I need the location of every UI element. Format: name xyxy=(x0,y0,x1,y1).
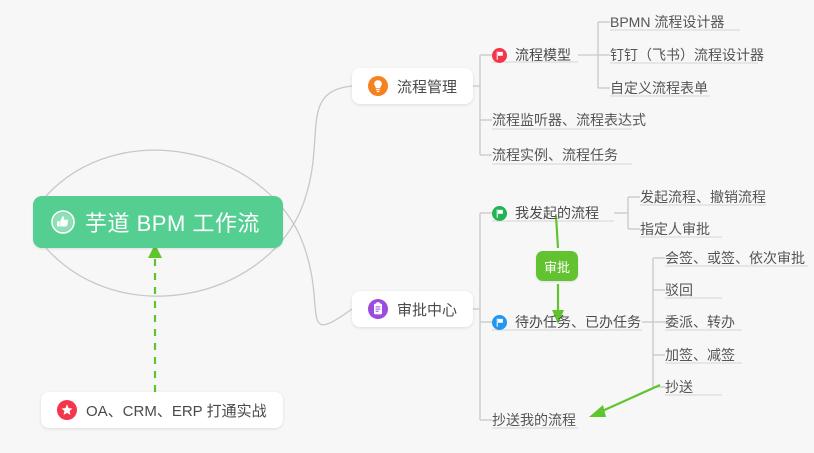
leaf-custom-process-form[interactable]: 自定义流程表单 xyxy=(610,75,708,101)
lightbulb-icon xyxy=(368,76,388,96)
branch-approval-center[interactable]: 审批中心 xyxy=(352,291,473,327)
branch-label: 流程管理 xyxy=(397,76,457,97)
leaf-process-listener-expression[interactable]: 流程监听器、流程表达式 xyxy=(492,107,646,133)
leaf-label: 加签、减签 xyxy=(665,345,735,365)
approval-chip-label: 审批 xyxy=(544,257,570,276)
leaf-label: BPMN 流程设计器 xyxy=(610,12,724,32)
flag-icon-red xyxy=(492,48,507,63)
footer-node-label: OA、CRM、ERP 打通实战 xyxy=(86,400,267,421)
topic-label: 流程模型 xyxy=(515,45,571,65)
leaf-process-instance-task[interactable]: 流程实例、流程任务 xyxy=(492,142,618,168)
leaf-label: 抄送我的流程 xyxy=(492,410,576,430)
mindmap-canvas: 芋道 BPM 工作流 流程管理 流程模型 BPMN 流程设计器 钉钉（飞书）流程 xyxy=(0,0,814,453)
approval-chip[interactable]: 审批 xyxy=(536,251,578,281)
leaf-label: 发起流程、撤销流程 xyxy=(640,187,766,207)
leaf-add-remove-sign[interactable]: 加签、减签 xyxy=(665,342,735,368)
leaf-dingtalk-feishu-designer[interactable]: 钉钉（飞书）流程设计器 xyxy=(610,42,764,68)
leaf-label: 流程实例、流程任务 xyxy=(492,145,618,165)
leaf-assignee-approval[interactable]: 指定人审批 xyxy=(640,216,710,242)
leaf-label: 流程监听器、流程表达式 xyxy=(492,110,646,130)
clipboard-icon xyxy=(368,299,388,319)
leaf-carbon-copy[interactable]: 抄送 xyxy=(665,374,693,400)
leaf-label: 委派、转办 xyxy=(665,312,735,332)
footer-node-practice[interactable]: OA、CRM、ERP 打通实战 xyxy=(41,392,283,428)
branch-label: 审批中心 xyxy=(397,299,457,320)
star-icon xyxy=(57,400,77,420)
leaf-label: 抄送 xyxy=(665,377,693,397)
topic-label: 我发起的流程 xyxy=(515,203,599,223)
leaf-bpmn-designer[interactable]: BPMN 流程设计器 xyxy=(610,9,724,35)
cc-arrow-head xyxy=(589,405,606,417)
thumbs-up-icon xyxy=(51,210,75,234)
topic-label: 待办任务、已办任务 xyxy=(515,312,641,332)
root-node[interactable]: 芋道 BPM 工作流 xyxy=(33,196,283,248)
topic-todo-done-tasks[interactable]: 待办任务、已办任务 xyxy=(492,309,641,335)
leaf-label: 自定义流程表单 xyxy=(610,78,708,98)
topic-my-initiated-process[interactable]: 我发起的流程 xyxy=(492,200,599,226)
leaf-countersign-orsign-sequential[interactable]: 会签、或签、依次审批 xyxy=(665,245,805,271)
leaf-label: 驳回 xyxy=(665,280,693,300)
cc-arrow xyxy=(600,385,660,412)
branch-process-management[interactable]: 流程管理 xyxy=(352,68,473,104)
flag-icon-blue xyxy=(492,315,507,330)
leaf-reject[interactable]: 驳回 xyxy=(665,277,693,303)
leaf-label: 钉钉（飞书）流程设计器 xyxy=(610,45,764,65)
leaf-start-cancel-process[interactable]: 发起流程、撤销流程 xyxy=(640,184,766,210)
leaf-label: 会签、或签、依次审批 xyxy=(665,248,805,268)
leaf-label: 指定人审批 xyxy=(640,219,710,239)
flag-icon-green xyxy=(492,206,507,221)
root-label: 芋道 BPM 工作流 xyxy=(85,206,260,238)
leaf-delegate-transfer[interactable]: 委派、转办 xyxy=(665,309,735,335)
leaf-cc-to-me-process[interactable]: 抄送我的流程 xyxy=(492,407,576,433)
topic-process-model[interactable]: 流程模型 xyxy=(492,42,571,68)
